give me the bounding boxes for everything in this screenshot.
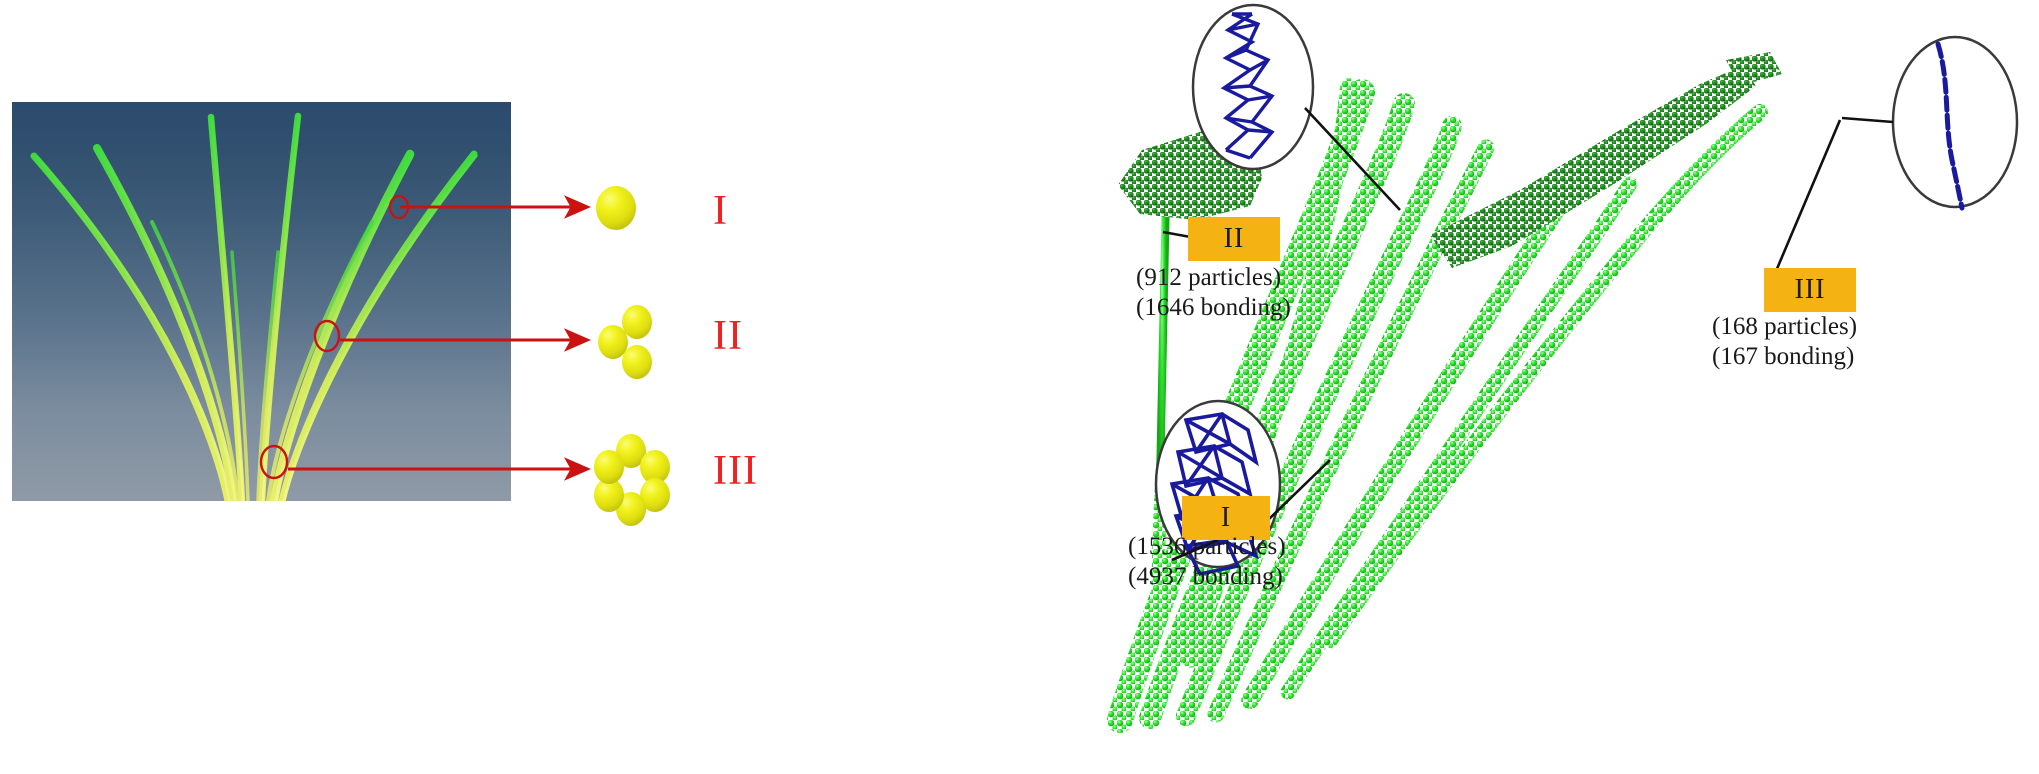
roman-label-I: I — [713, 190, 728, 232]
fiber-render-viewport — [12, 102, 511, 501]
tag-bonding-III: (167 bonding) — [1712, 342, 1857, 372]
sphere — [622, 345, 652, 379]
tag-box-label: III — [1795, 274, 1826, 306]
marker-circle-I — [390, 196, 408, 218]
tag-box-III[interactable]: III — [1764, 268, 1856, 312]
tag-particles-I: (1536 particles) — [1128, 532, 1286, 562]
sphere-cluster-III — [594, 434, 694, 524]
marker-circle-III — [261, 446, 287, 478]
leader-tag-III — [1768, 120, 1840, 290]
tag-bonding-II: (1646 bonding) — [1136, 293, 1291, 323]
sphere-cluster-II — [596, 305, 676, 385]
sphere-cluster-I — [596, 186, 656, 246]
tag-bonding-I: (4937 bonding) — [1128, 562, 1286, 592]
roman-label-III: III — [713, 450, 758, 492]
figure-root: I II III — [0, 0, 2039, 774]
tag-particles-II: (912 particles) — [1136, 263, 1291, 293]
right-panel: II (912 particles) (1646 bonding) I (153… — [1000, 0, 2039, 774]
tag-caption-II: (912 particles) (1646 bonding) — [1136, 263, 1291, 322]
particle-model-render — [1000, 0, 2039, 774]
tag-caption-I: (1536 particles) (4937 bonding) — [1128, 532, 1286, 591]
left-panel: I II III — [0, 0, 1000, 774]
roman-label-II: II — [713, 315, 743, 357]
sphere — [596, 186, 636, 230]
marker-circle-II — [315, 321, 339, 351]
inset-ellipse-III — [1893, 37, 2017, 208]
leader-inset-III — [1842, 118, 1893, 122]
tag-box-label: II — [1224, 223, 1245, 255]
callout-circle-markers — [12, 102, 511, 501]
sphere — [594, 450, 624, 484]
tag-particles-III: (168 particles) — [1712, 312, 1857, 342]
tag-box-II[interactable]: II — [1188, 217, 1280, 261]
tag-caption-III: (168 particles) (167 bonding) — [1712, 312, 1857, 371]
inset-ellipse-II — [1193, 5, 1313, 169]
tag-box-label: I — [1221, 502, 1231, 534]
